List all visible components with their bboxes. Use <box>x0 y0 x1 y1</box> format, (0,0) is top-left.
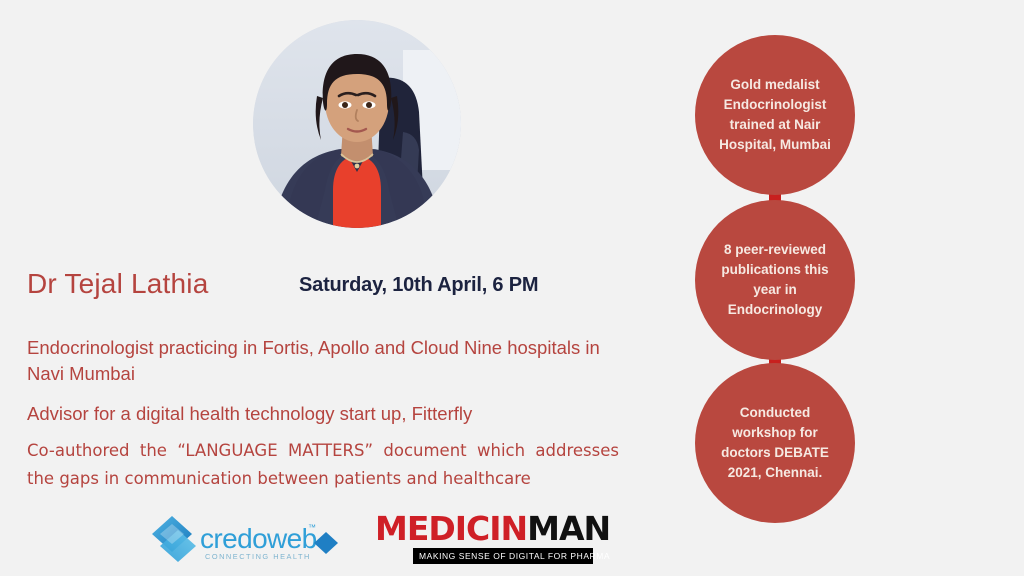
highlight-circle-publications[interactable]: 8 peer-reviewed publications this year i… <box>695 200 855 360</box>
credoweb-diamond-mark <box>152 516 196 562</box>
credoweb-logo[interactable]: credoweb ™ CONNECTING HEALTH <box>148 514 344 566</box>
credoweb-wordmark: credoweb <box>200 523 317 554</box>
medicinman-tagline: MAKING SENSE OF DIGITAL FOR PHARMA <box>413 548 593 564</box>
medicinman-word-red: MEDICIN <box>375 509 527 548</box>
medicinman-wordmark: MEDICINMAN <box>375 512 607 546</box>
credoweb-logo-graphic: credoweb ™ CONNECTING HEALTH <box>148 514 344 566</box>
highlight-text-workshop: Conducted workshop for doctors DEBATE 20… <box>707 403 843 483</box>
highlight-circle-workshop[interactable]: Conducted workshop for doctors DEBATE 20… <box>695 363 855 523</box>
credoweb-accent-diamond-icon <box>314 532 338 554</box>
credoweb-tagline: CONNECTING HEALTH <box>205 552 311 561</box>
bio-line-language-matters: Co-authored the “LANGUAGE MATTERS” docum… <box>27 437 619 493</box>
highlight-circle-gold-medalist[interactable]: Gold medalist Endocrinologist trained at… <box>695 35 855 195</box>
speaker-portrait <box>253 20 461 228</box>
credoweb-trademark-icon: ™ <box>308 523 316 532</box>
headline-row: Dr Tejal Lathia Saturday, 10th April, 6 … <box>27 268 647 308</box>
logo-strip: credoweb ™ CONNECTING HEALTH MEDICINMAN … <box>140 508 630 570</box>
event-datetime: Saturday, 10th April, 6 PM <box>299 274 538 297</box>
speaker-name: Dr Tejal Lathia <box>27 268 208 300</box>
bio-line-practice: Endocrinologist practicing in Fortis, Ap… <box>27 335 623 387</box>
medicinman-logo[interactable]: MEDICINMAN MAKING SENSE OF DIGITAL FOR P… <box>375 512 607 568</box>
bio-line-advisor: Advisor for a digital health technology … <box>27 401 623 427</box>
highlight-text-gold-medalist: Gold medalist Endocrinologist trained at… <box>707 75 843 155</box>
highlight-text-publications: 8 peer-reviewed publications this year i… <box>707 240 843 320</box>
portrait-illustration <box>253 20 461 228</box>
medicinman-word-black: MAN <box>527 509 610 548</box>
highlight-chain: Gold medalist Endocrinologist trained at… <box>695 30 865 530</box>
